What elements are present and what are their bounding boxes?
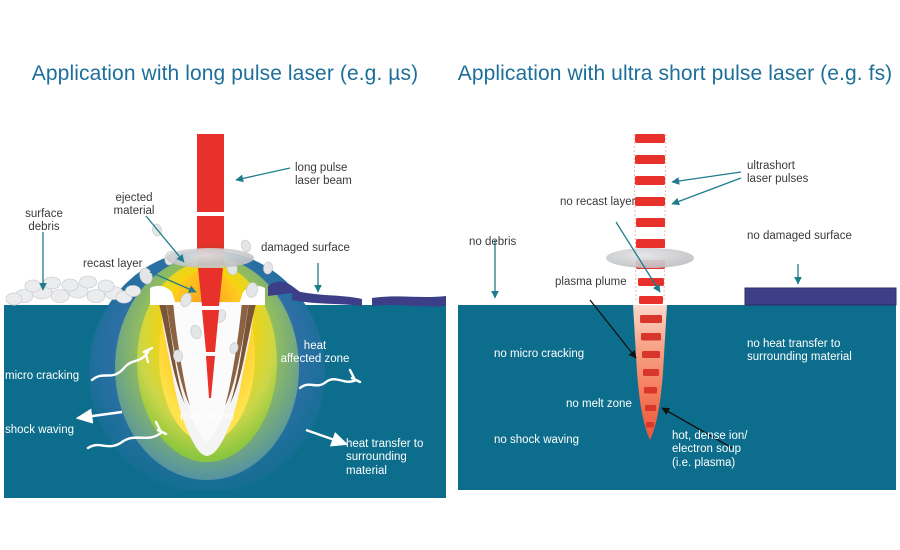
- label-recast-layer: recast layer: [83, 258, 173, 271]
- label-no-damaged-surface: no damaged surface: [747, 230, 887, 243]
- label-ejected-material: ejected material: [96, 192, 172, 219]
- label-damaged-surface: damaged surface: [261, 242, 389, 255]
- label-melt-zone: melt zone: [180, 410, 260, 423]
- label-heat-transfer: heat transfer to surrounding material: [346, 438, 450, 478]
- label-plasma-plume: plasma plume: [555, 276, 655, 289]
- panel-ultrashort-pulse: Application with ultra short pulse laser…: [450, 0, 900, 550]
- label-no-shock-waving: no shock waving: [494, 434, 634, 447]
- label-heat-affected-zone: heat affected zone: [270, 340, 360, 367]
- label-plasma-soup: hot, dense ion/ electron soup (i.e. plas…: [672, 430, 792, 470]
- label-ultrashort-laser-pulses: ultrashort laser pulses: [747, 160, 839, 187]
- label-no-debris: no debris: [469, 236, 549, 249]
- label-no-heat-transfer: no heat transfer to surrounding material: [747, 338, 897, 365]
- label-micro-cracking: micro cracking: [5, 370, 105, 383]
- panel-long-pulse: Application with long pulse laser (e.g. …: [0, 0, 450, 550]
- label-no-recast-layer: no recast layer: [560, 196, 670, 209]
- label-surface-debris: surface debris: [8, 208, 80, 235]
- label-shock-waving: shock waving: [5, 424, 105, 437]
- label-no-melt-zone: no melt zone: [566, 398, 676, 411]
- label-no-micro-cracking: no micro cracking: [494, 348, 644, 361]
- diagram-canvas: Application with long pulse laser (e.g. …: [0, 0, 900, 550]
- label-long-pulse-laser-beam: long pulse laser beam: [295, 162, 387, 189]
